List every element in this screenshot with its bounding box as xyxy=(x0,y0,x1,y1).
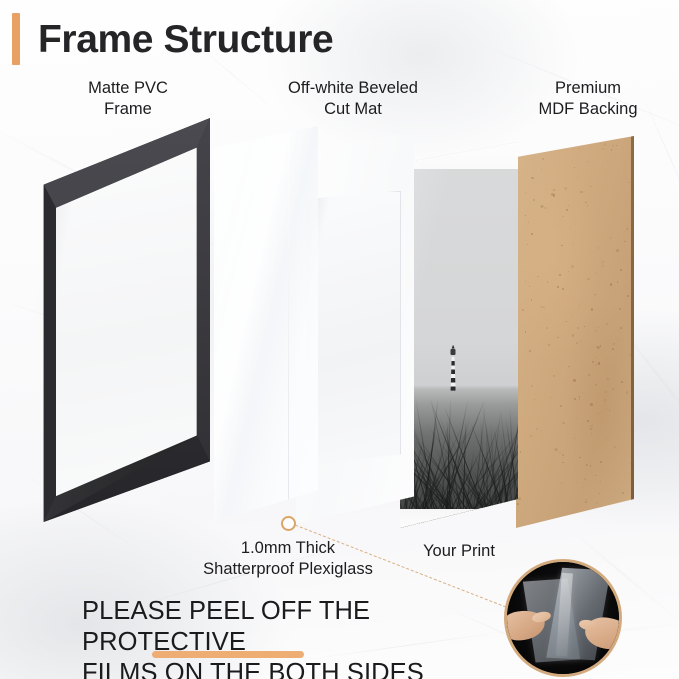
mdf-speck xyxy=(534,399,536,401)
mdf-speck xyxy=(586,499,587,500)
mdf-speck xyxy=(525,281,526,282)
mdf-speck xyxy=(627,228,629,230)
page-title: Frame Structure xyxy=(38,14,333,66)
mdf-speck xyxy=(525,331,527,333)
mdf-speck xyxy=(537,276,538,277)
mdf-speck xyxy=(531,299,533,301)
mdf-speck xyxy=(595,330,597,332)
mdf-speck xyxy=(598,327,599,328)
mdf-speck xyxy=(591,433,592,434)
mdf-speck xyxy=(577,327,579,329)
mdf-speck xyxy=(532,432,533,433)
mdf-speck xyxy=(617,281,618,282)
mdf-speck xyxy=(614,446,616,448)
caption-line-2: MDF Backing xyxy=(508,99,668,120)
mdf-speck xyxy=(619,308,621,310)
mdf-speck xyxy=(550,397,551,398)
mdf-speck xyxy=(573,243,574,244)
mdf-speck xyxy=(611,149,613,151)
caption-line-1: Premium xyxy=(508,78,668,99)
mdf-speck xyxy=(557,337,558,338)
mdf-speck xyxy=(562,422,564,424)
plexiglass-edge xyxy=(288,134,290,514)
mdf-speck xyxy=(598,247,599,248)
mdf-speck xyxy=(626,391,628,393)
mdf-speck xyxy=(546,189,547,190)
mdf-speck xyxy=(580,341,581,342)
caption-line-2: Frame xyxy=(58,99,198,120)
layer-plexiglass xyxy=(214,126,318,522)
mdf-speck xyxy=(551,193,553,195)
mdf-speck xyxy=(604,399,606,401)
mdf-speck xyxy=(530,435,532,437)
mdf-speck xyxy=(582,392,583,393)
mdf-speck xyxy=(602,261,604,263)
mdf-speck xyxy=(565,347,566,348)
connector-dot-marker xyxy=(281,516,296,531)
mdf-speck xyxy=(522,309,524,311)
highlight-underline xyxy=(152,651,304,658)
mdf-speck xyxy=(561,482,563,484)
mdf-speck xyxy=(620,269,622,271)
mdf-speck xyxy=(584,478,586,480)
mdf-speck xyxy=(620,327,622,329)
mdf-speck xyxy=(570,227,571,228)
mdf-speck xyxy=(595,384,597,386)
caption-line-1: Your Print xyxy=(403,541,515,562)
mdf-speck xyxy=(520,451,522,453)
mdf-speck xyxy=(529,286,530,287)
mdf-speck xyxy=(609,410,610,411)
mdf-speck xyxy=(562,288,564,290)
layer-mdf-backing xyxy=(516,136,634,528)
mdf-speck xyxy=(528,222,529,223)
caption-line-2: Cut Mat xyxy=(263,99,443,120)
mdf-speck xyxy=(562,382,563,383)
instruction-text: PLEASE PEEL OFF THE PROTECTIVE FILMS ON … xyxy=(82,596,482,679)
mdf-speck xyxy=(612,348,614,350)
mdf-speck xyxy=(591,308,594,311)
mdf-speck xyxy=(590,186,591,187)
mdf-speck xyxy=(560,405,562,407)
mdf-speck xyxy=(577,418,578,419)
caption-line-1: Off-white Beveled xyxy=(263,78,443,99)
mdf-speck xyxy=(562,462,563,463)
caption-premium-mdf-backing: Premium MDF Backing xyxy=(508,78,668,120)
instruction-line-2: FILMS ON THE BOTH SIDES xyxy=(82,658,424,679)
mdf-speck xyxy=(546,327,548,329)
mdf-speck xyxy=(557,286,559,288)
mdf-speck xyxy=(574,167,575,168)
mdf-speck xyxy=(572,315,573,316)
mdf-speck xyxy=(606,438,607,439)
mdf-speck xyxy=(547,281,549,283)
mdf-speck xyxy=(525,215,526,216)
mdf-speck xyxy=(578,148,579,149)
mdf-speck xyxy=(628,182,629,183)
mdf-speck xyxy=(596,346,598,348)
mdf-speck xyxy=(562,454,564,456)
caption-matte-pvc-frame: Matte PVC Frame xyxy=(58,78,198,120)
mdf-speck xyxy=(568,205,569,206)
mdf-speck xyxy=(544,207,546,209)
peel-film-photo xyxy=(504,559,622,677)
mdf-speck xyxy=(595,295,596,296)
mdf-speck xyxy=(622,492,624,494)
mdf-edge xyxy=(631,136,634,528)
mdf-speck xyxy=(580,191,582,193)
mdf-speck xyxy=(566,209,568,211)
mdf-speck xyxy=(585,202,586,203)
mdf-speck xyxy=(529,350,530,351)
mdf-speck xyxy=(602,265,604,267)
mdf-speck xyxy=(548,344,550,346)
mdf-speck xyxy=(590,428,592,430)
mdf-speck xyxy=(590,425,592,427)
mdf-speck xyxy=(596,357,597,358)
mdf-speck xyxy=(613,343,615,345)
mdf-speck xyxy=(612,488,613,489)
mdf-speck xyxy=(630,463,631,464)
mdf-speck xyxy=(624,241,626,243)
caption-plexiglass: 1.0mm Thick Shatterproof Plexiglass xyxy=(143,538,433,580)
mdf-speck xyxy=(610,237,612,239)
mdf-speck xyxy=(579,399,580,400)
mdf-speck xyxy=(587,420,589,422)
mdf-speck xyxy=(568,271,569,272)
mdf-speck xyxy=(531,177,533,179)
mdf-speck xyxy=(595,364,597,366)
mdf-speck xyxy=(574,398,576,400)
mdf-speck xyxy=(571,265,574,268)
mdf-speck xyxy=(602,148,604,150)
mdf-speck xyxy=(616,145,617,146)
mdf-speck xyxy=(592,361,595,364)
mdf-speck xyxy=(566,321,567,322)
mdf-speck xyxy=(579,305,580,306)
mdf-speck xyxy=(568,366,570,368)
mdf-speck xyxy=(632,330,633,331)
mdf-speck xyxy=(536,428,538,430)
mdf-speck xyxy=(606,408,607,409)
mdf-speck xyxy=(588,374,589,375)
mdf-speck xyxy=(576,342,578,344)
caption-your-print: Your Print xyxy=(403,541,515,562)
mdf-speck xyxy=(562,216,564,218)
mdf-speck xyxy=(573,379,576,382)
mdf-speck xyxy=(540,430,541,431)
mdf-speck xyxy=(577,482,578,483)
plexiglass-sheen xyxy=(214,126,318,522)
mdf-speck xyxy=(521,271,522,272)
mdf-speck xyxy=(588,161,589,162)
mdf-speck xyxy=(597,283,598,284)
mdf-speck xyxy=(596,502,598,504)
mdf-speck xyxy=(533,199,535,201)
mdf-speck xyxy=(542,158,544,160)
mdf-speck xyxy=(531,233,533,235)
mdf-speck xyxy=(527,244,528,245)
mdf-speck xyxy=(577,177,578,178)
mdf-speck xyxy=(587,205,588,206)
mdf-speck xyxy=(595,475,597,477)
mat-bevel xyxy=(307,191,401,465)
mdf-speck xyxy=(564,187,567,190)
mdf-speck xyxy=(625,286,626,287)
mdf-speck xyxy=(586,464,588,466)
mdf-speck xyxy=(579,457,581,459)
mdf-speck xyxy=(617,339,619,341)
mdf-speck xyxy=(607,160,608,161)
mdf-speck xyxy=(605,391,607,393)
mdf-speck xyxy=(590,403,593,406)
mdf-speck xyxy=(604,143,606,145)
instruction-line-1: PLEASE PEEL OFF THE PROTECTIVE xyxy=(82,596,482,658)
mdf-speck xyxy=(525,192,526,193)
mdf-speck xyxy=(606,378,608,380)
caption-offwhite-beveled-cut-mat: Off-white Beveled Cut Mat xyxy=(263,78,443,120)
mdf-speck xyxy=(579,396,580,397)
mdf-speck xyxy=(606,323,608,325)
mdf-speck xyxy=(599,413,600,414)
accent-bar xyxy=(12,13,20,65)
mdf-speck xyxy=(600,345,602,347)
mdf-speck xyxy=(553,375,555,377)
print-glare xyxy=(400,142,518,528)
caption-line-1: 1.0mm Thick xyxy=(143,538,433,559)
mdf-speck xyxy=(531,385,533,387)
mdf-speck xyxy=(517,503,519,505)
infographic-canvas: Frame Structure Matte PVC Frame Off-whit… xyxy=(0,0,679,679)
mdf-speck xyxy=(587,278,589,280)
layer-pvc-frame xyxy=(34,118,210,522)
mdf-speck xyxy=(600,481,601,482)
caption-line-1: Matte PVC xyxy=(58,78,198,99)
mdf-speck xyxy=(629,354,631,356)
mdf-speck xyxy=(612,388,614,390)
mdf-speck xyxy=(559,274,561,276)
mdf-speck xyxy=(612,145,614,147)
mdf-speck xyxy=(572,334,574,336)
mdf-speck xyxy=(541,168,542,169)
mdf-speck xyxy=(600,461,602,463)
mdf-speck xyxy=(559,452,561,454)
mdf-speck xyxy=(595,272,596,273)
mdf-speck xyxy=(574,438,575,439)
layer-print xyxy=(400,142,518,528)
mdf-speck xyxy=(610,284,612,286)
mdf-speck xyxy=(616,249,619,252)
mdf-speck xyxy=(598,362,600,364)
mdf-speck xyxy=(518,497,521,500)
mdf-speck xyxy=(585,501,587,503)
mdf-speck xyxy=(627,295,629,297)
mdf-speck xyxy=(621,381,623,383)
mdf-speck xyxy=(599,493,600,494)
mdf-speck xyxy=(553,189,555,191)
mdf-speck xyxy=(584,326,585,327)
mdf-speck xyxy=(561,245,563,247)
mdf-speck xyxy=(590,465,592,467)
mdf-speck xyxy=(543,307,544,308)
